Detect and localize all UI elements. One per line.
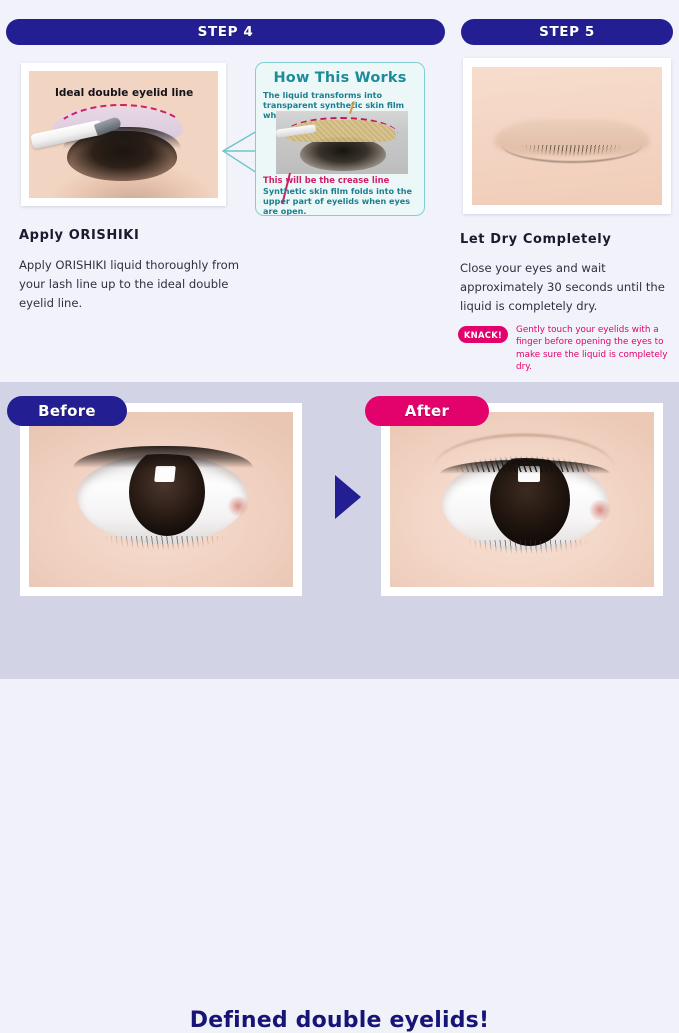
instruction-infographic: STEP 4 STEP 5 Ideal double eyelid line H [0,0,679,679]
closed-lashes [506,145,638,167]
before-lower-lashes [89,536,239,562]
step-4-body: Apply ORISHIKI liquid thoroughly from yo… [19,256,241,313]
before-inner-corner [227,496,249,516]
step-4-header-bar: STEP 4 [6,19,445,45]
knack-tip-text: Gently touch your eyelids with a finger … [516,324,668,374]
before-pill: Before [7,396,127,426]
final-caption: Defined double eyelids! [0,1008,679,1033]
step-4-heading: Apply ORISHIKI [19,228,139,243]
before-after-section: Before After [0,382,679,679]
before-catchlight [154,466,176,482]
step-5-photo [463,58,671,214]
crease-line-label: This will be the crease line [263,175,421,185]
after-inner-corner [588,500,612,520]
after-eye-image [390,412,654,587]
step-4-eye-image: Ideal double eyelid line [29,71,218,198]
before-upper-lashes [73,446,253,468]
before-eye-image [29,412,293,587]
connector-line-icon [222,130,258,174]
how-this-works-title: How This Works [256,70,424,86]
step-5-body: Close your eyes and wait approximately 3… [460,259,672,316]
how-this-works-box: How This Works The liquid transforms int… [255,62,425,216]
knack-badge-label: KNACK! [464,330,502,340]
step-5-heading: Let Dry Completely [460,232,611,247]
right-arrow-icon [333,473,363,521]
after-lower-lashes [452,540,602,566]
step-5-label: STEP 5 [539,24,595,40]
crease-line-note: Synthetic skin film folds into the upper… [263,187,421,216]
after-pill: After [365,396,489,426]
knack-badge: KNACK! [458,326,508,343]
step-4-photo-caption: Ideal double eyelid line [55,87,193,99]
after-photo-frame [381,403,663,596]
step-5-header-bar: STEP 5 [461,19,673,45]
step-4-label: STEP 4 [198,24,254,40]
before-photo-frame [20,403,302,596]
step-4-photo: Ideal double eyelid line [21,63,226,206]
how-this-works-diagram [276,111,408,174]
step-5-closed-eye-image [472,67,662,205]
before-label: Before [38,402,96,420]
after-label: After [405,402,449,420]
diagram-eye [300,137,386,171]
steps-section: STEP 4 STEP 5 Ideal double eyelid line H [0,0,679,382]
